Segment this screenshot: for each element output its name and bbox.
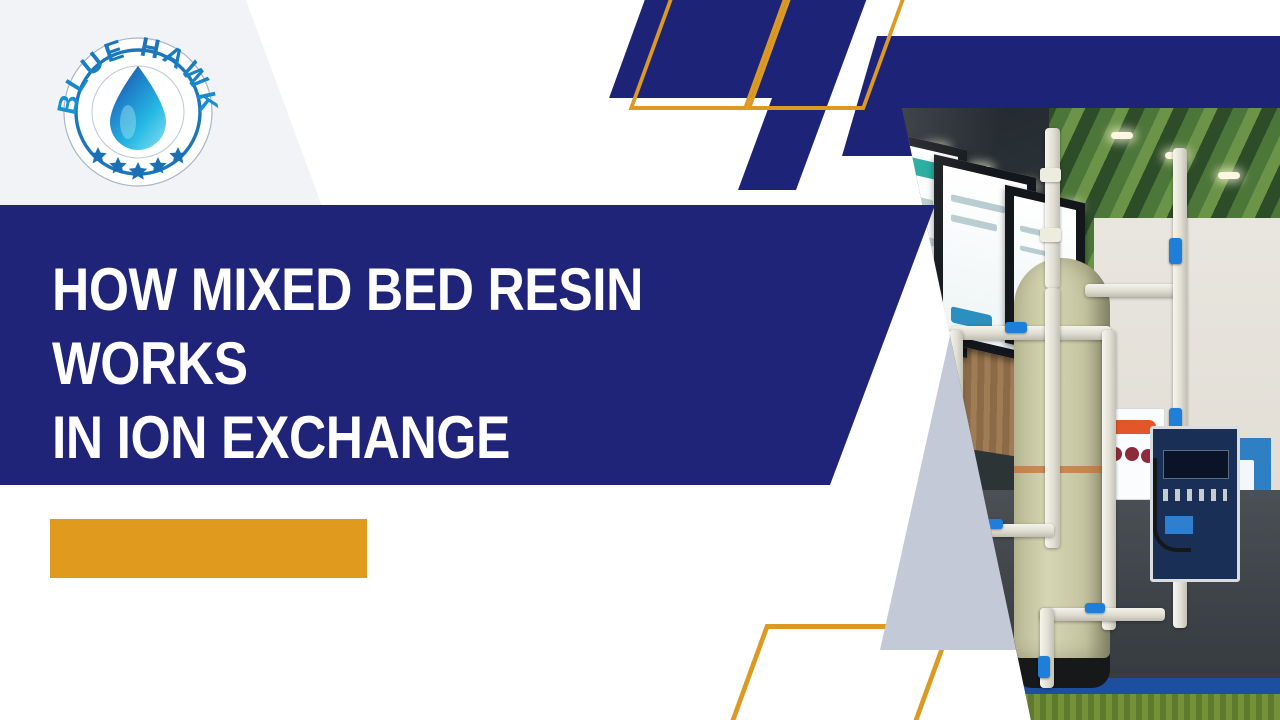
- pipe-segment: [1085, 284, 1183, 297]
- ball-valve: [1169, 238, 1182, 264]
- pipe-segment: [1045, 288, 1060, 548]
- pipe-coupling: [1040, 228, 1061, 242]
- poster-product-icon: [1125, 447, 1139, 461]
- ceiling-light-icon: [1111, 132, 1133, 139]
- slide-canvas: HOW MIXED BED RESIN WORKS IN ION EXCHANG…: [0, 0, 1280, 720]
- cta-button[interactable]: [50, 519, 367, 578]
- frp-pressure-vessel: [1014, 258, 1110, 658]
- screen-text-line: [951, 194, 1005, 213]
- droplet-highlight: [120, 105, 136, 139]
- ball-valve: [1005, 322, 1027, 333]
- ceiling-light-icon: [1218, 172, 1240, 179]
- page-title: HOW MIXED BED RESIN WORKS IN ION EXCHANG…: [52, 253, 766, 549]
- vessel-label-band: [1014, 466, 1110, 473]
- pipe-coupling: [1040, 168, 1061, 182]
- screen-text-line: [951, 214, 996, 231]
- pipe-segment: [951, 326, 1111, 340]
- power-cable: [1153, 458, 1191, 552]
- pipe-segment: [1045, 128, 1060, 288]
- ball-valve: [1038, 656, 1050, 678]
- ball-valve: [1085, 603, 1105, 613]
- blue-hawk-logo[interactable]: BLUE HAWK: [50, 26, 226, 190]
- pipe-segment: [1102, 330, 1116, 630]
- screen-text-line: [864, 185, 933, 208]
